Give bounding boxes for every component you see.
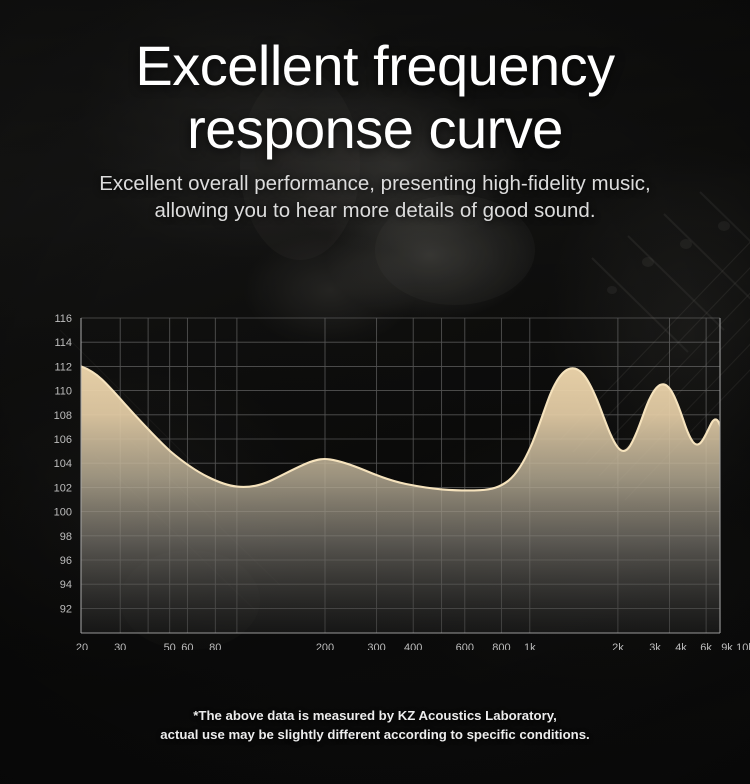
footnote-line1: *The above data is measured by KZ Acoust… <box>0 706 750 725</box>
x-tick-label: 20 <box>76 642 88 650</box>
y-tick-label: 96 <box>60 555 72 567</box>
page-title: Excellent frequency response curve <box>0 34 750 161</box>
x-tick-label: 10k <box>736 642 750 650</box>
page-content: Excellent frequency response curve Excel… <box>0 0 750 784</box>
page-subtitle: Excellent overall performance, presentin… <box>0 170 750 224</box>
x-tick-label: 80 <box>209 642 221 650</box>
footnote-line2: actual use may be slightly different acc… <box>0 725 750 744</box>
x-tick-label: 300 <box>367 642 385 650</box>
x-tick-label: 1k <box>524 642 536 650</box>
page-subtitle-line1: Excellent overall performance, presentin… <box>99 172 650 195</box>
frequency-response-chart: 116 114 112 110 108 106 104 102 100 98 9… <box>0 300 750 650</box>
y-tick-label: 114 <box>54 337 72 349</box>
y-axis-tick-labels: 116 114 112 110 108 106 104 102 100 98 9… <box>54 313 72 615</box>
y-tick-label: 108 <box>54 410 72 422</box>
y-tick-label: 110 <box>54 386 72 398</box>
x-tick-label: 600 <box>456 642 474 650</box>
x-tick-label: 60 <box>181 642 193 650</box>
y-tick-label: 98 <box>60 531 72 543</box>
y-tick-label: 104 <box>54 458 72 470</box>
x-tick-label: 6k <box>700 642 712 650</box>
x-tick-label: 4k <box>675 642 687 650</box>
x-tick-label: 3k <box>649 642 661 650</box>
x-axis-tick-labels: 20 30 50 60 80 200 300 400 600 800 1k 2k… <box>76 642 750 650</box>
y-tick-label: 112 <box>54 361 72 373</box>
x-tick-label: 400 <box>404 642 422 650</box>
x-tick-label: 2k <box>612 642 624 650</box>
header-block: Excellent frequency response curve Excel… <box>0 0 750 224</box>
y-tick-label: 116 <box>54 313 72 325</box>
y-tick-label: 100 <box>54 507 72 519</box>
x-tick-label: 30 <box>114 642 126 650</box>
y-tick-label: 94 <box>60 579 72 591</box>
x-tick-label: 50 <box>164 642 176 650</box>
y-tick-label: 106 <box>54 434 72 446</box>
y-tick-label: 92 <box>60 603 72 615</box>
x-tick-label: 9k <box>721 642 733 650</box>
y-tick-label: 102 <box>54 482 72 494</box>
footnote: *The above data is measured by KZ Acoust… <box>0 706 750 744</box>
x-tick-label: 800 <box>492 642 510 650</box>
x-tick-label: 200 <box>316 642 334 650</box>
page-subtitle-line2: allowing you to hear more details of goo… <box>154 199 595 222</box>
